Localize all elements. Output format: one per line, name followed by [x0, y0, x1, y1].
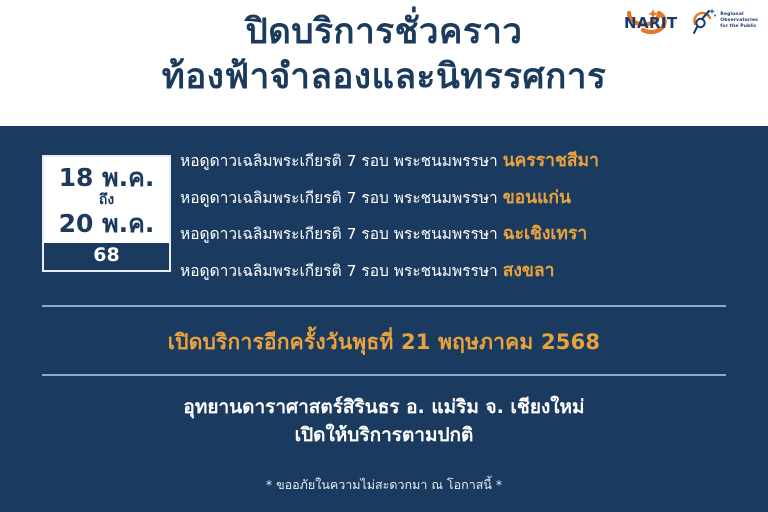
poster-body: 18 พ.ค. ถึง 20 พ.ค. 68 หอดูดาวเฉลิมพระเก… — [0, 126, 768, 512]
poster-header: ปิดบริการชั่วคราว ท้องฟ้าจำลองและนิทรรศก… — [0, 0, 768, 126]
date-range-box: 18 พ.ค. ถึง 20 พ.ค. 68 — [42, 155, 171, 272]
narit-logo: NARIT — [619, 6, 683, 36]
observatory-name: นครราชสีมา — [503, 151, 599, 171]
observatory-name: ฉะเชิงเทรา — [503, 224, 587, 244]
observatory-prefix: หอดูดาวเฉลิมพระเกียรติ 7 รอบ พระชนมพรรษา — [180, 152, 498, 170]
list-item: หอดูดาวเฉลิมพระเกียรติ 7 รอบ พระชนมพรรษา… — [180, 226, 750, 244]
divider-top — [42, 305, 726, 307]
observatory-prefix: หอดูดาวเฉลิมพระเกียรติ 7 รอบ พระชนมพรรษา — [180, 189, 498, 207]
date-year: 68 — [44, 243, 169, 271]
narit-logo-icon: NARIT — [619, 6, 683, 36]
date-range-inner: 18 พ.ค. ถึง 20 พ.ค. — [44, 157, 169, 243]
park-info: อุทยานดาราศาสตร์สิรินธร อ. แม่ริม จ. เชี… — [0, 394, 768, 449]
apology-note: * ขออภัยในความไม่สะดวกมา ณ โอกาสนี้ * — [0, 475, 768, 495]
park-status: เปิดให้บริการตามปกติ — [0, 422, 768, 450]
list-item: หอดูดาวเฉลิมพระเกียรติ 7 รอบ พระชนมพรรษา… — [180, 263, 750, 281]
divider-bottom — [42, 374, 726, 376]
observatory-prefix: หอดูดาวเฉลิมพระเกียรติ 7 รอบ พระชนมพรรษา — [180, 262, 498, 280]
observatory-prefix: หอดูดาวเฉลิมพระเกียรติ 7 รอบ พระชนมพรรษา — [180, 225, 498, 243]
park-name: อุทยานดาราศาสตร์สิรินธร อ. แม่ริม จ. เชี… — [0, 394, 768, 422]
list-item: หอดูดาวเฉลิมพระเกียรติ 7 รอบ พระชนมพรรษา… — [180, 190, 750, 208]
observatory-dome-icon — [691, 7, 717, 35]
title-line-2: ท้องฟ้าจำลองและนิทรรศการ — [0, 55, 768, 100]
roc-line-3: for the Public — [720, 24, 758, 30]
observatory-name: ขอนแก่น — [503, 188, 571, 208]
regional-observatories-logo: Regional Observatories for the Public — [691, 6, 758, 36]
observatory-name: สงขลา — [503, 261, 555, 281]
date-start: 18 พ.ค. — [48, 164, 165, 192]
logo-group: NARIT Regional — [619, 6, 758, 36]
date-end: 20 พ.ค. — [48, 210, 165, 238]
list-item: หอดูดาวเฉลิมพระเกียรติ 7 รอบ พระชนมพรรษา… — [180, 153, 750, 171]
date-connector: ถึง — [48, 192, 165, 210]
observatory-list: หอดูดาวเฉลิมพระเกียรติ 7 รอบ พระชนมพรรษา… — [180, 153, 750, 280]
regional-observatories-label: Regional Observatories for the Public — [720, 12, 758, 31]
poster-announcement: ปิดบริการชั่วคราว ท้องฟ้าจำลองและนิทรรศก… — [0, 0, 768, 512]
reopen-notice: เปิดบริการอีกครั้งวันพุธที่ 21 พฤษภาคม 2… — [0, 326, 768, 359]
svg-text:NARIT: NARIT — [624, 14, 678, 32]
